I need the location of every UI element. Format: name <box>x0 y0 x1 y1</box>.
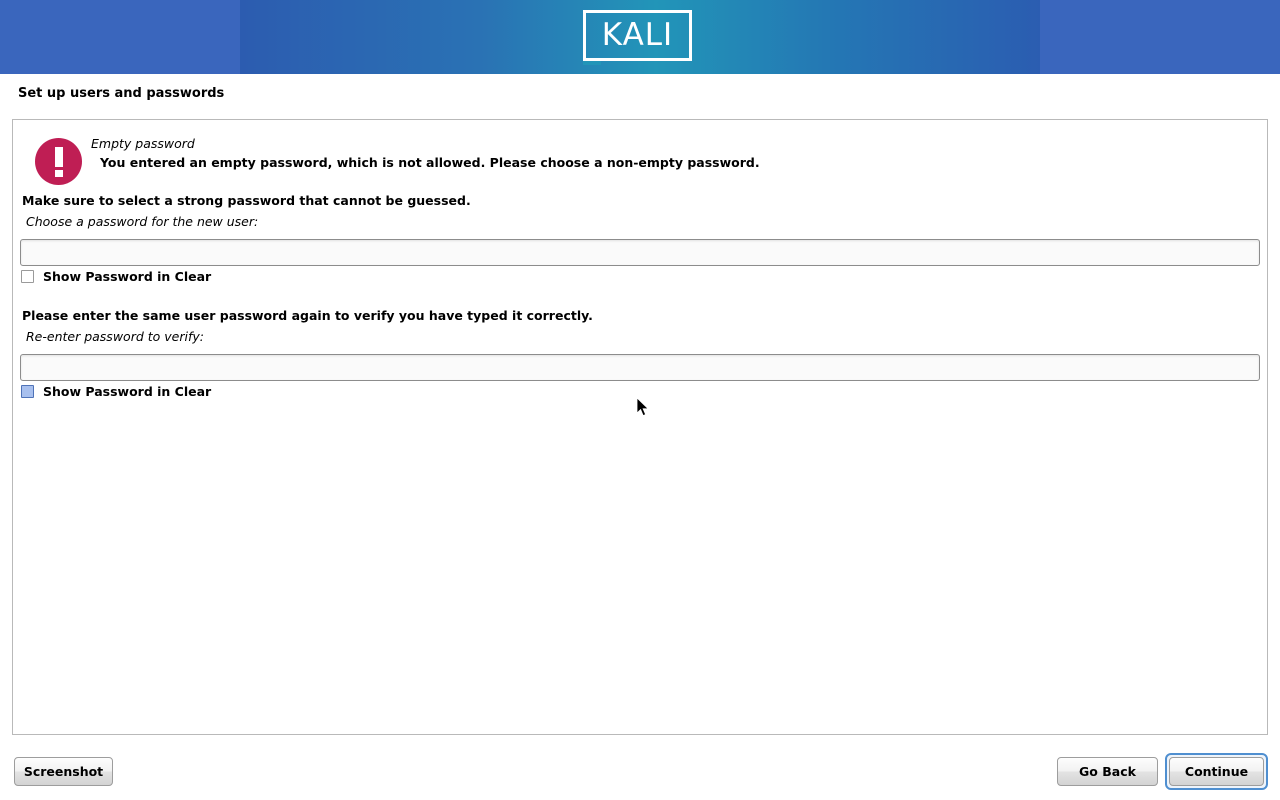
verify-field-label: Re-enter password to verify: <box>26 329 204 344</box>
installer-screen: KALI Set up users and passwords Empty pa… <box>0 0 1280 800</box>
screenshot-button[interactable]: Screenshot <box>14 757 113 786</box>
password-strength-heading: Make sure to select a strong password th… <box>22 193 471 208</box>
verify-password-heading: Please enter the same user password agai… <box>22 308 593 323</box>
continue-button-focus-ring[interactable]: Continue <box>1165 753 1268 790</box>
show-password-checkbox-2[interactable] <box>21 385 34 398</box>
content-panel: Empty password You entered an empty pass… <box>12 119 1268 735</box>
exclamation-dot <box>55 170 63 177</box>
password-input[interactable] <box>20 239 1260 266</box>
continue-button[interactable]: Continue <box>1169 757 1264 786</box>
show-password-checkbox-row-2[interactable]: Show Password in Clear <box>21 384 211 399</box>
go-back-button[interactable]: Go Back <box>1057 757 1158 786</box>
show-password-checkbox-1[interactable] <box>21 270 34 283</box>
error-notice: Empty password You entered an empty pass… <box>22 129 1252 191</box>
show-password-checkbox-row-1[interactable]: Show Password in Clear <box>21 269 211 284</box>
exclamation-bar <box>55 147 63 167</box>
kali-logo: KALI <box>583 10 696 65</box>
password-field-label: Choose a password for the new user: <box>26 214 258 229</box>
kali-logo-text: KALI <box>583 10 692 61</box>
show-password-label-1: Show Password in Clear <box>43 269 211 284</box>
error-title: Empty password <box>91 136 195 151</box>
kali-banner: KALI <box>0 0 1280 74</box>
error-exclamation-icon <box>35 138 82 185</box>
show-password-label-2: Show Password in Clear <box>43 384 211 399</box>
verify-password-input[interactable] <box>20 354 1260 381</box>
error-message: You entered an empty password, which is … <box>100 155 760 170</box>
page-title: Set up users and passwords <box>18 86 224 101</box>
kali-logo-notch <box>583 61 601 65</box>
